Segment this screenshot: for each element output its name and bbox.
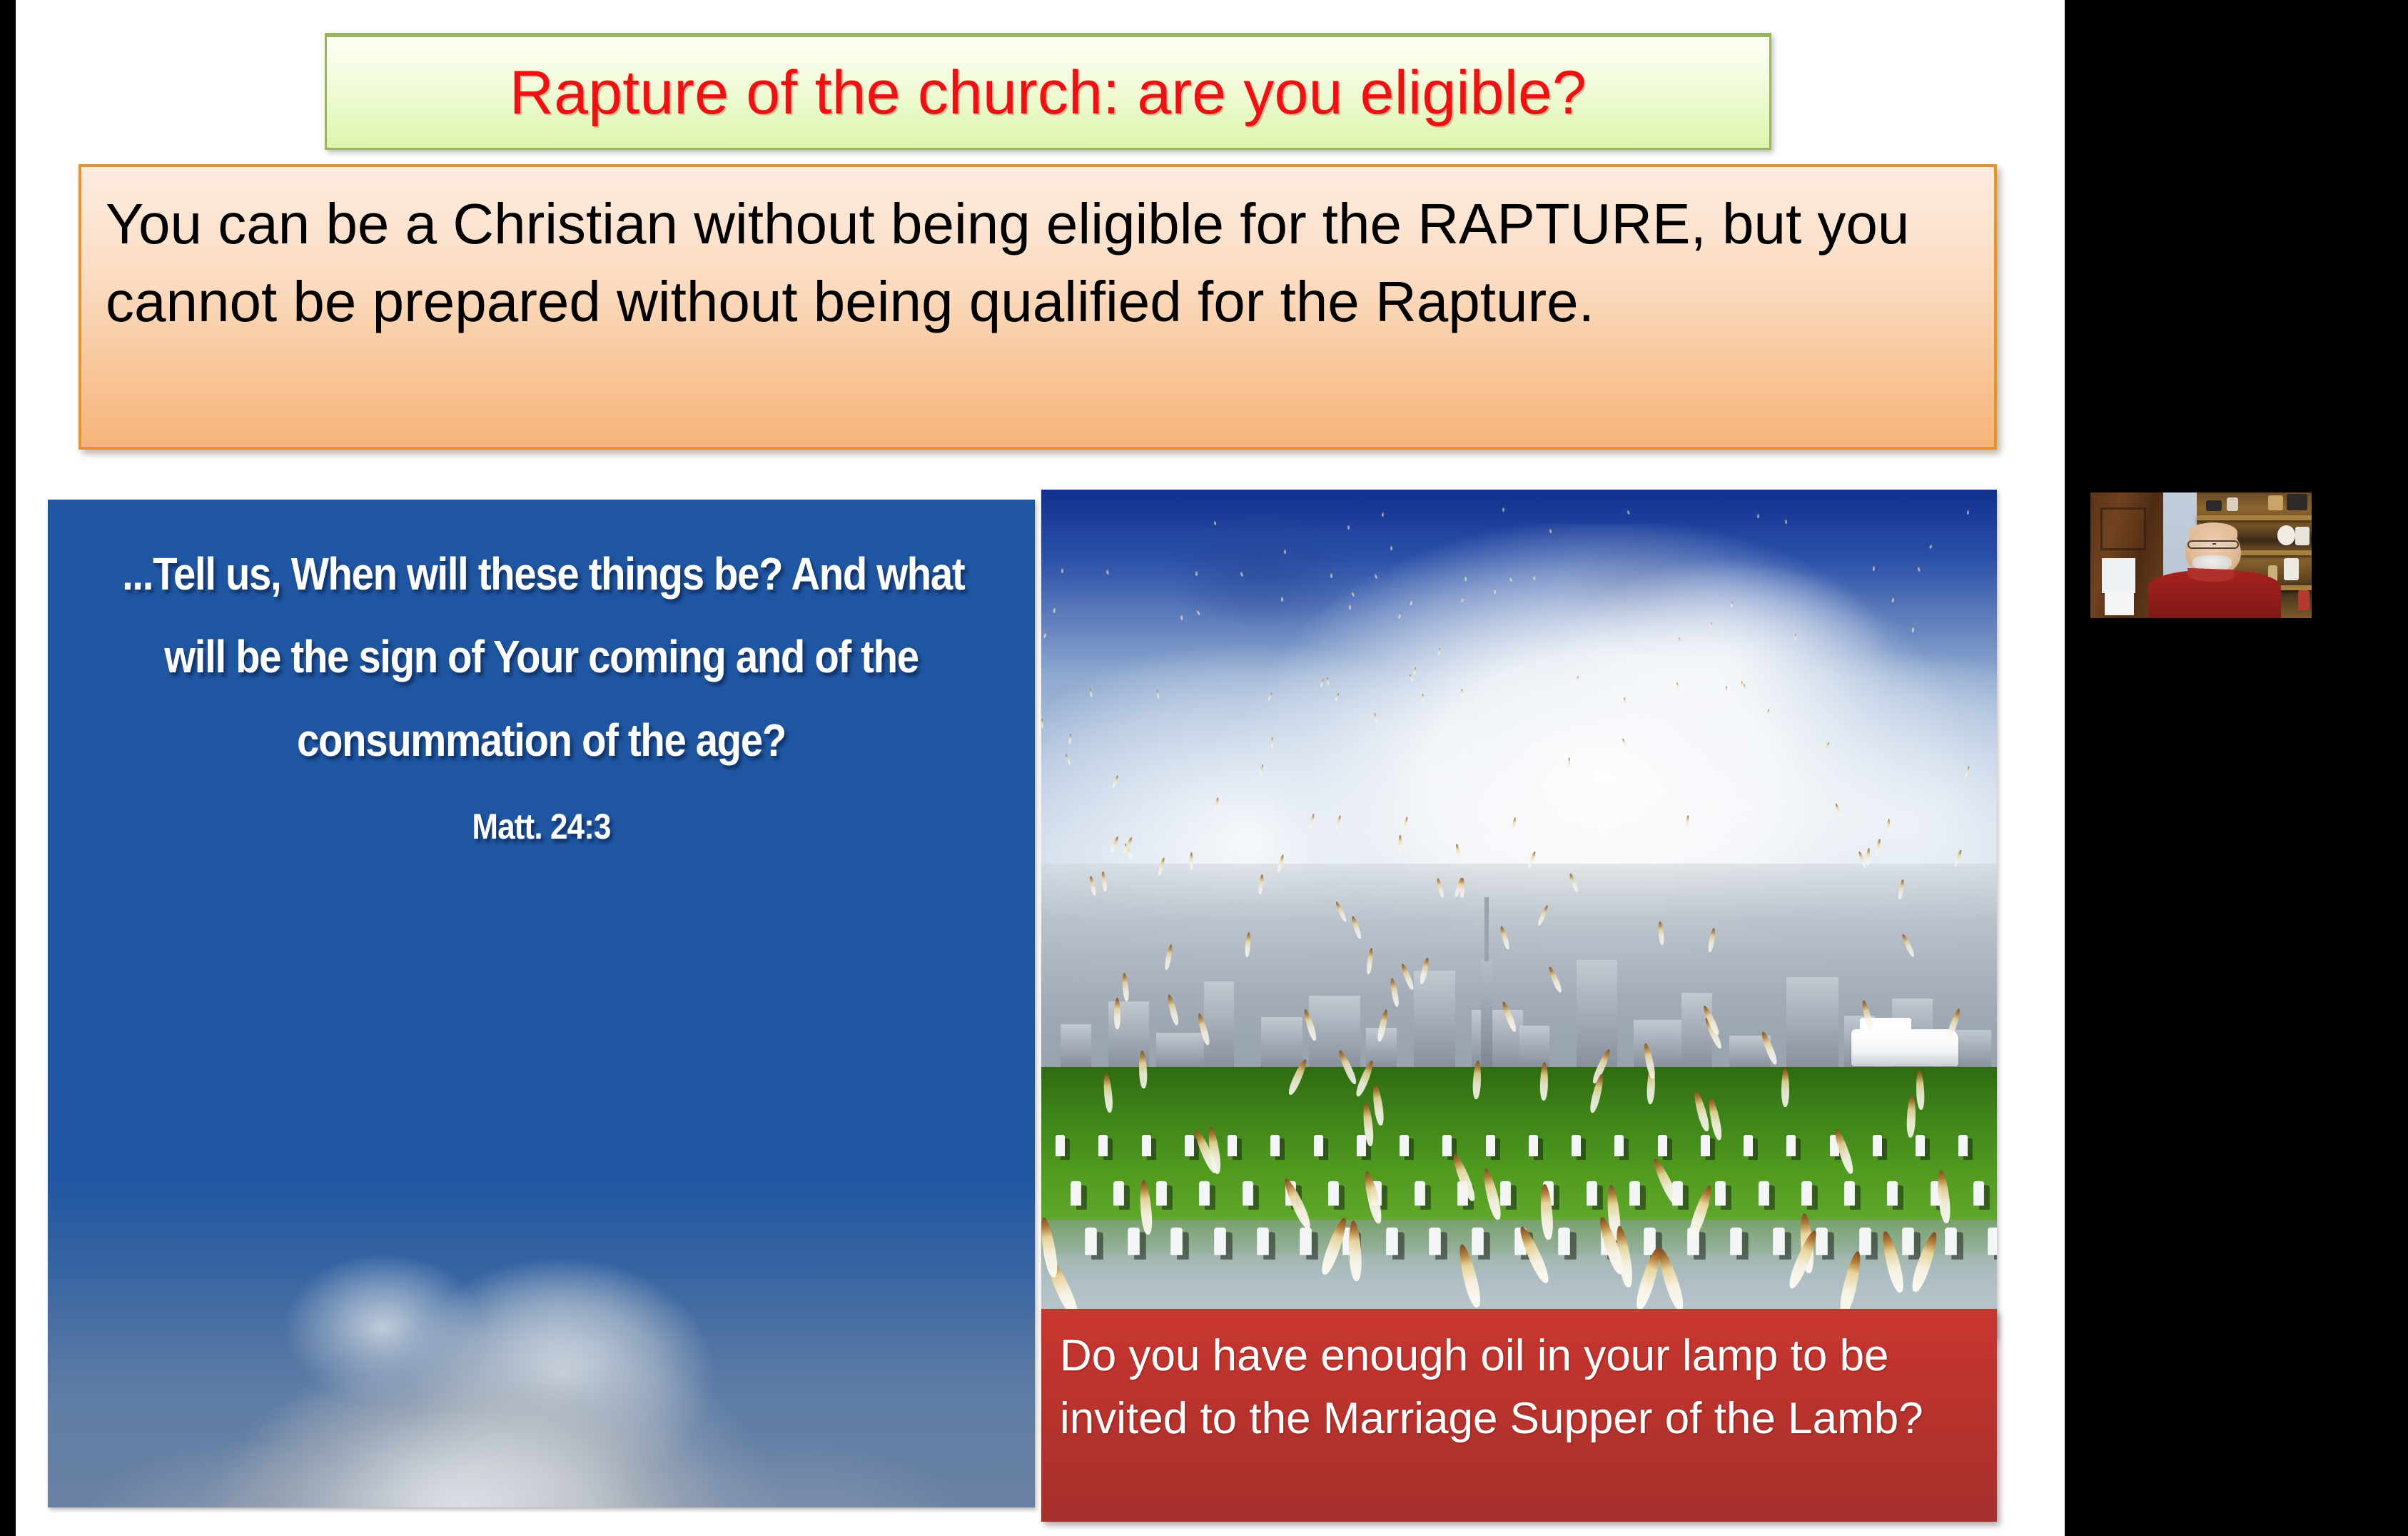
building xyxy=(1786,977,1838,1067)
presenter-webcam-tile[interactable] xyxy=(2080,484,2322,627)
shelf-board xyxy=(2197,515,2312,520)
building xyxy=(1309,996,1360,1067)
tombstone xyxy=(1773,1227,1785,1254)
presentation-viewer: Rapture of the church: are you eligible?… xyxy=(0,0,2408,1536)
shelf-object xyxy=(2277,525,2296,545)
tombstone xyxy=(1701,1135,1710,1156)
tombstone xyxy=(1988,1227,1997,1254)
shelf-object xyxy=(2295,527,2309,545)
tombstone xyxy=(1572,1135,1581,1156)
tombstone xyxy=(1786,1135,1796,1156)
tombstone xyxy=(1400,1135,1409,1156)
shelf-object xyxy=(2206,500,2222,512)
tombstone xyxy=(1744,1135,1753,1156)
tombstone xyxy=(1529,1135,1538,1156)
tombstone xyxy=(1587,1181,1597,1206)
tombstone xyxy=(1085,1227,1097,1254)
tombstone xyxy=(1128,1227,1140,1254)
building xyxy=(1204,981,1235,1067)
tombstone xyxy=(1171,1227,1183,1254)
tombstone xyxy=(1958,1135,1968,1156)
building xyxy=(1519,1026,1550,1067)
scripture-text: ...Tell us, When will these things be? A… xyxy=(48,532,1035,847)
ascending-figure xyxy=(1623,697,1626,707)
ascending-figure xyxy=(1189,852,1193,870)
tombstone xyxy=(1916,1135,1925,1156)
cloud-photo xyxy=(48,1036,1035,1507)
tombstone xyxy=(1629,1181,1640,1206)
tombstone xyxy=(1113,1181,1124,1206)
tombstone xyxy=(1056,1135,1065,1156)
scripture-line-1: ...Tell us, When will these things be? A… xyxy=(122,532,961,615)
ascending-figure xyxy=(1422,694,1424,702)
tombstone xyxy=(1715,1181,1726,1206)
scripture-line-3: consummation of the age? xyxy=(122,699,961,782)
tombstone xyxy=(1199,1181,1210,1206)
scripture-line-2: will be the sign of Your coming and of t… xyxy=(122,615,961,698)
tombstone xyxy=(1730,1227,1742,1254)
tombstone xyxy=(1214,1227,1226,1254)
statement-text: You can be a Christian without being eli… xyxy=(106,186,1970,341)
shelf-object xyxy=(2227,497,2238,511)
hanging-paper-2 xyxy=(2105,590,2134,615)
shelf-object xyxy=(2284,558,2299,581)
tombstone xyxy=(1328,1181,1339,1206)
ascending-figure xyxy=(1493,588,1496,594)
ascending-figure xyxy=(1460,689,1462,697)
ascending-figure xyxy=(1330,572,1332,578)
building xyxy=(1681,993,1712,1067)
ascending-figure xyxy=(1438,648,1440,655)
tombstone xyxy=(1270,1135,1280,1156)
building xyxy=(1261,1017,1302,1067)
statement-box: You can be a Christian without being eli… xyxy=(79,164,1997,450)
page-title: Rapture of the church: are you eligible? xyxy=(510,62,1587,123)
tombstone xyxy=(1257,1227,1269,1254)
tombstone xyxy=(1300,1227,1312,1254)
webcam-video[interactable] xyxy=(2090,492,2312,618)
tombstone xyxy=(1429,1227,1441,1254)
tombstone xyxy=(1228,1135,1237,1156)
building xyxy=(1634,1020,1685,1067)
tombstone xyxy=(1658,1135,1667,1156)
tombstone xyxy=(1500,1181,1511,1206)
building xyxy=(1156,1033,1208,1067)
tombstone xyxy=(1558,1227,1570,1254)
building xyxy=(1472,1010,1523,1067)
scripture-image-panel: ...Tell us, When will these things be? A… xyxy=(48,500,1035,1507)
caption-box: Do you have enough oil in your lamp to b… xyxy=(1041,1309,1997,1522)
tombstone xyxy=(1486,1135,1495,1156)
hanging-paper xyxy=(2102,558,2135,593)
tombstone xyxy=(1142,1135,1151,1156)
tombstone xyxy=(1156,1181,1167,1206)
building xyxy=(1061,1024,1091,1067)
tombstone xyxy=(1973,1181,1984,1206)
broadcast-tower xyxy=(1481,960,1492,1067)
tombstone xyxy=(1859,1227,1871,1254)
ascending-figure xyxy=(1502,507,1504,512)
building xyxy=(1577,960,1618,1067)
tombstone xyxy=(1844,1181,1855,1206)
rapture-image-panel xyxy=(1041,490,1997,1339)
shelf-object xyxy=(2287,494,2307,510)
tombstone xyxy=(1071,1181,1081,1206)
tombstone xyxy=(1759,1181,1769,1206)
ascending-figure xyxy=(1061,567,1063,573)
tombstone xyxy=(1243,1181,1253,1206)
tombstone xyxy=(1442,1135,1452,1156)
tombstone xyxy=(1873,1135,1882,1156)
tombstone xyxy=(1887,1181,1898,1206)
tombstone xyxy=(1472,1227,1484,1254)
tombstone xyxy=(1357,1135,1366,1156)
shelf-object xyxy=(2268,495,2283,510)
tombstone xyxy=(1185,1135,1194,1156)
ascending-figure xyxy=(1271,737,1273,748)
tombstone xyxy=(1386,1227,1398,1254)
tombstone xyxy=(1614,1135,1624,1156)
ship-icon xyxy=(1851,1029,1958,1066)
door-panel xyxy=(2100,507,2145,550)
tombstone xyxy=(1902,1227,1914,1254)
caption-text: Do you have enough oil in your lamp to b… xyxy=(1060,1325,1978,1450)
ascending-figure xyxy=(1113,998,1120,1029)
tombstone xyxy=(1816,1227,1828,1254)
building xyxy=(1414,971,1455,1067)
shelf-object xyxy=(2298,590,2310,610)
tombstone xyxy=(1415,1181,1425,1206)
eyeglasses-icon xyxy=(2187,540,2238,549)
tombstone xyxy=(1801,1181,1812,1206)
scripture-reference: Matt. 24:3 xyxy=(122,806,961,847)
slide-title-box: Rapture of the church: are you eligible? xyxy=(325,33,1771,150)
tombstone xyxy=(1098,1135,1108,1156)
slide-canvas: Rapture of the church: are you eligible?… xyxy=(16,0,2065,1536)
tombstone xyxy=(1945,1227,1957,1254)
tombstone xyxy=(1314,1135,1323,1156)
ascending-figure xyxy=(1756,513,1759,518)
